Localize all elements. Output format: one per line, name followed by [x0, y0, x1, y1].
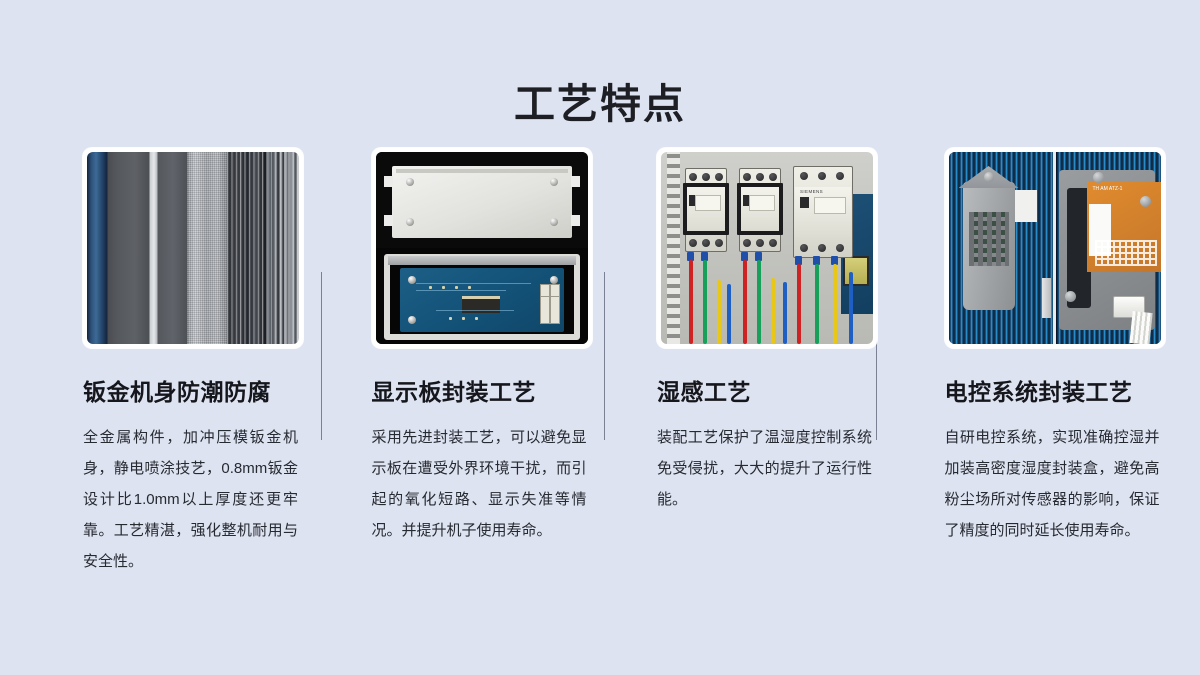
- feature-heading-2: 显示板封装工艺: [372, 373, 628, 407]
- contactor-terminal: [836, 172, 844, 180]
- contactor-terminal: [756, 173, 764, 181]
- contactor-terminal: [689, 173, 697, 181]
- panel-tab: [384, 176, 393, 187]
- panel-tab: [384, 215, 393, 226]
- panel-screw: [550, 178, 558, 186]
- wire-yellow: [771, 278, 775, 344]
- bracket-screw: [1140, 196, 1151, 207]
- contactor-terminal: [800, 172, 808, 180]
- wire-yellow: [833, 264, 837, 344]
- bracket-screw: [1093, 172, 1104, 183]
- control-panel-contactors-photo: SIEMENS: [661, 152, 873, 344]
- wire-red: [743, 260, 747, 344]
- contactor-terminal: [769, 239, 777, 247]
- white-display-panel: [392, 166, 572, 238]
- pcb-pad: [429, 286, 432, 289]
- contactor-terminal: [715, 239, 723, 247]
- pcb-in-housing-shot: [376, 248, 588, 344]
- display-panel-shot: [376, 152, 588, 248]
- panel-lip: [396, 169, 568, 173]
- contactor-label-window: [814, 197, 846, 214]
- contactor-terminal: [836, 244, 844, 252]
- contactor-brand-label: SIEMENS: [800, 189, 823, 194]
- sensor-screw: [984, 172, 994, 182]
- feature-body-3: 装配工艺保护了温湿度控制系统免受侵扰，大大的提升了运行性能。: [657, 422, 872, 515]
- feature-column-2: 显示板封装工艺 采用先进封装工艺，可以避免显示板在遭受外界环境干扰，而引起的氧化…: [372, 148, 628, 577]
- panel-screw: [550, 218, 558, 226]
- humidity-sensor-photo: TH AM ATZ-1: [949, 152, 1161, 344]
- contactor-siemens: SIEMENS: [793, 166, 853, 258]
- wire-green: [815, 264, 819, 344]
- feature-image-card-3: SIEMENS: [657, 148, 877, 348]
- pcb-pad: [468, 286, 471, 289]
- contactor-terminal: [689, 239, 697, 247]
- wire-red: [797, 264, 801, 344]
- panel-screw: [406, 218, 414, 226]
- sensor-pcb-label: TH AM ATZ-1: [1093, 186, 1123, 192]
- feature-columns: 钣金机身防潮防腐 全金属构件，加冲压模钣金机身，静电喷涂技艺，0.8mm钣金设计…: [0, 148, 1200, 577]
- pcb-trace: [436, 310, 515, 311]
- contactor-terminal: [715, 173, 723, 181]
- contactor-terminal: [702, 239, 710, 247]
- contactor: [685, 168, 727, 252]
- feature-image-card-4: TH AM ATZ-1: [945, 148, 1165, 348]
- feature-image-card-2: [372, 148, 592, 348]
- pcb-pad: [455, 286, 458, 289]
- pcb-pad: [475, 317, 478, 320]
- feature-body-4: 自研电控系统，实现准确控湿并加装高密度湿度封装盒，避免高粉尘场所对传感器的影响，…: [945, 422, 1160, 546]
- pcb-screw: [408, 276, 416, 284]
- feature-heading-1: 钣金机身防潮防腐: [83, 373, 339, 407]
- bracket-screw: [1065, 291, 1076, 302]
- humidity-sensor-housing: [963, 182, 1015, 310]
- pcb-pad: [449, 317, 452, 320]
- sensor-orange-pcb: TH AM ATZ-1: [1087, 182, 1161, 272]
- contactor: [739, 168, 781, 252]
- sheet-metal-panels-photo: [87, 152, 299, 344]
- contactor-terminal: [818, 172, 826, 180]
- contactor-terminal: [743, 239, 751, 247]
- sensor-pcb-dot-matrix: [1095, 240, 1157, 266]
- feature-body-1: 全金属构件，加冲压模钣金机身，静电喷涂技艺，0.8mm钣金设计比1.0mm以上厚…: [83, 422, 298, 577]
- housing-top-strip: [388, 256, 576, 265]
- feature-image-card-1: [83, 148, 303, 348]
- pcb-connector: [540, 296, 550, 324]
- din-rail: [667, 152, 680, 344]
- sensor-vent-grille: [969, 212, 1009, 266]
- feature-column-4: TH AM ATZ-1 电控系统封装工艺 自研电控系统，实现准确控湿并加装高密度…: [945, 148, 1200, 577]
- contactor-label-window: [695, 195, 721, 211]
- connector-wire-bundle: [1129, 311, 1152, 344]
- pcb-screw: [550, 276, 558, 284]
- feature-body-2: 采用先进封装工艺，可以避免显示板在遭受外界环境干扰，而引起的氧化短路、显示失准等…: [372, 422, 587, 546]
- page-title: 工艺特点: [0, 70, 1200, 130]
- contactor-terminal: [756, 239, 764, 247]
- feature-heading-4: 电控系统封装工艺: [945, 373, 1200, 407]
- contactor-terminal: [769, 173, 777, 181]
- photo-split-gap: [1053, 152, 1056, 344]
- panel-screw: [406, 178, 414, 186]
- contactor-terminal: [800, 244, 808, 252]
- contactor-terminal: [818, 244, 826, 252]
- wire-yellow: [717, 280, 721, 344]
- blue-pcb: [400, 268, 564, 332]
- wire-red: [689, 260, 693, 344]
- panel-tab: [571, 215, 580, 226]
- contactor-terminal: [702, 173, 710, 181]
- feature-column-1: 钣金机身防潮防腐 全金属构件，加冲压模钣金机身，静电喷涂技艺，0.8mm钣金设计…: [83, 148, 339, 577]
- contactor-label-window: [749, 195, 775, 211]
- contactor-terminal: [743, 173, 751, 181]
- pcb-trace: [416, 290, 506, 291]
- wire-blue: [849, 272, 853, 344]
- feature-heading-3: 湿感工艺: [657, 373, 913, 407]
- wire-blue: [727, 284, 731, 344]
- pcb-pad: [462, 317, 465, 320]
- display-board-encapsulation-photo: [376, 152, 588, 344]
- pcb-pad: [442, 286, 445, 289]
- pcb-connector: [550, 296, 560, 324]
- contactor-switch: [800, 197, 809, 208]
- panel-tab: [571, 176, 580, 187]
- wire-green: [703, 260, 707, 344]
- feature-column-3: SIEMENS: [657, 148, 913, 577]
- pcb-trace: [416, 283, 531, 284]
- sensor-cable: [1042, 278, 1051, 318]
- wire-blue: [783, 282, 787, 344]
- wire-green: [757, 260, 761, 344]
- transformer: [843, 256, 869, 286]
- pcb-screw: [408, 316, 416, 324]
